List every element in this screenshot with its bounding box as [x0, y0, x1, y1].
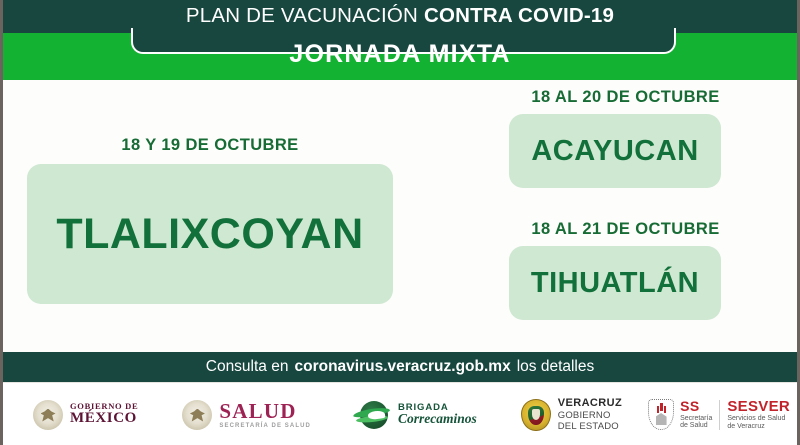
- right-column: 18 AL 20 DE OCTUBRE ACAYUCAN 18 AL 21 DE…: [463, 88, 788, 320]
- logo-sesver: SESVER Servicios de Salud de Veracruz: [727, 383, 790, 445]
- ss-shield-icon: [648, 399, 674, 430]
- poster-header: PLAN DE VACUNACIÓN CONTRA COVID-19 JORNA…: [3, 0, 797, 80]
- city-card-acayucan: ACAYUCAN: [509, 114, 721, 188]
- logo-bar: GOBIERNO DE MÉXICO SALUD SECRETARÍA DE S…: [3, 382, 797, 445]
- logo-veracruz-line1: VERACRUZ: [558, 397, 622, 410]
- logo-veracruz-line3: DEL ESTADO: [558, 421, 622, 432]
- mexican-eagle-emblem-icon: [182, 400, 212, 430]
- city-card-tihuatlan: TIHUATLÁN: [509, 246, 721, 320]
- logo-veracruz-gobierno: VERACRUZ GOBIERNO DEL ESTADO: [521, 383, 622, 445]
- logo-correcaminos-text: BRIGADA Correcaminos: [398, 403, 477, 427]
- page-subtitle: JORNADA MIXTA: [3, 40, 797, 69]
- logo-sesver-line3: de Veracruz: [727, 423, 790, 431]
- logo-salud-line1: SALUD: [219, 400, 311, 422]
- logo-divider: [719, 400, 720, 430]
- page-title-light: PLAN DE VACUNACIÓN: [186, 4, 418, 27]
- logo-sesver-line2: Servicios de Salud: [727, 415, 790, 423]
- poster-body: 18 Y 19 DE OCTUBRE TLALIXCOYAN 18 AL 20 …: [3, 80, 797, 350]
- url-link[interactable]: coronavirus.veracruz.gob.mx: [294, 358, 510, 376]
- page-title-bold: CONTRA COVID-19: [424, 4, 614, 27]
- logo-veracruz-text: VERACRUZ GOBIERNO DEL ESTADO: [558, 397, 622, 433]
- logo-gobierno-de-mexico: GOBIERNO DE MÉXICO: [33, 383, 138, 445]
- logo-sesver-text: SESVER Servicios de Salud de Veracruz: [727, 399, 790, 430]
- url-bar: Consulta en coronavirus.veracruz.gob.mx …: [3, 352, 797, 382]
- logo-gobierno-line2: MÉXICO: [70, 411, 138, 427]
- logo-ss-text: SS Secretaría de Salud: [680, 399, 712, 429]
- logo-ss-line2: Secretaría: [680, 415, 712, 423]
- left-column: 18 Y 19 DE OCTUBRE TLALIXCOYAN: [27, 136, 393, 304]
- logo-salud-line2: SECRETARÍA DE SALUD: [219, 423, 311, 429]
- logo-veracruz-line2: GOBIERNO: [558, 410, 622, 421]
- veracruz-coat-of-arms-icon: [521, 399, 551, 431]
- logo-sesver-line1: SESVER: [727, 399, 790, 415]
- logo-ss-line3: de Salud: [680, 422, 712, 430]
- city-name-tihuatlan: TIHUATLÁN: [531, 267, 699, 300]
- city-name-tlalixcoyan: TLALIXCOYAN: [56, 210, 363, 259]
- roadrunner-bird-icon: [353, 401, 391, 429]
- logo-ss-line1: SS: [680, 399, 712, 414]
- page-title: PLAN DE VACUNACIÓN CONTRA COVID-19: [3, 4, 797, 28]
- logo-salud: SALUD SECRETARÍA DE SALUD: [182, 383, 311, 445]
- date-label-tlalixcoyan: 18 Y 19 DE OCTUBRE: [27, 136, 393, 155]
- url-bar-suffix: los detalles: [517, 358, 595, 376]
- column-spacer: [463, 188, 788, 220]
- city-card-tlalixcoyan: TLALIXCOYAN: [27, 164, 393, 304]
- url-bar-prefix: Consulta en: [206, 358, 289, 376]
- date-label-acayucan: 18 AL 20 DE OCTUBRE: [463, 88, 788, 107]
- logo-salud-text: SALUD SECRETARÍA DE SALUD: [219, 400, 311, 429]
- logo-correcaminos-line2: Correcaminos: [398, 412, 477, 426]
- logo-gobierno-text: GOBIERNO DE MÉXICO: [70, 402, 138, 427]
- city-name-acayucan: ACAYUCAN: [531, 135, 698, 168]
- logo-brigada-correcaminos: BRIGADA Correcaminos: [353, 383, 477, 445]
- date-label-tihuatlan: 18 AL 21 DE OCTUBRE: [463, 220, 788, 239]
- logo-ss-secretaria-salud: SS Secretaría de Salud: [648, 383, 712, 445]
- mexican-eagle-emblem-icon: [33, 400, 63, 430]
- poster-root: PLAN DE VACUNACIÓN CONTRA COVID-19 JORNA…: [0, 0, 800, 445]
